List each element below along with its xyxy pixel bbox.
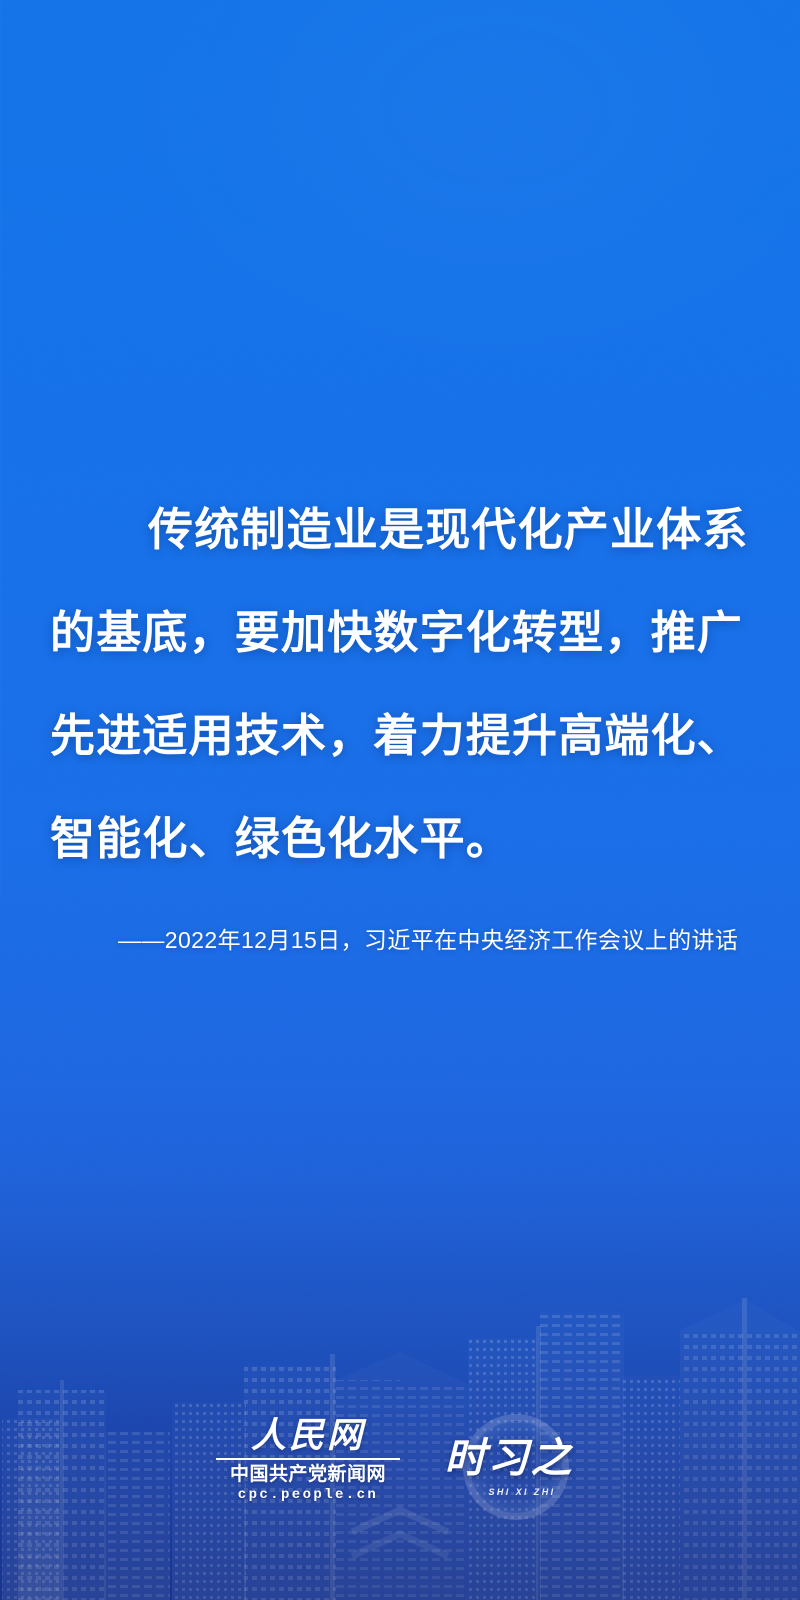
peoples-daily-url: cpc.people.cn xyxy=(238,1488,378,1502)
quote-text: 传统制造业是现代化产业体系 的基底，要加快数字化转型，推广 先进适用技术，着力提… xyxy=(50,478,760,890)
circle-ring-icon xyxy=(463,1414,569,1520)
quote-line-3: 先进适用技术，着力提升高端化、 xyxy=(50,684,760,787)
peoples-daily-brand: 人民网 xyxy=(251,1418,365,1458)
quote-line-1: 传统制造业是现代化产业体系 xyxy=(50,478,760,581)
quote-line-2: 的基底，要加快数字化转型，推广 xyxy=(50,581,760,684)
quote-line-4: 智能化、绿色化水平。 xyxy=(50,787,760,890)
shixizhi-title: 时习之 xyxy=(445,1424,574,1484)
quote-attribution: ——2022年12月15日，习近平在中央经济工作会议上的讲话 xyxy=(50,920,756,960)
logo-divider xyxy=(216,1458,400,1460)
peoples-daily-logo: 人民网 中国共产党新闻网 cpc.people.cn xyxy=(216,1418,400,1502)
peoples-daily-subtitle: 中国共产党新闻网 xyxy=(230,1465,386,1484)
footer-logos: 人民网 中国共产党新闻网 cpc.people.cn 时习之 SHI XI ZH… xyxy=(0,1405,800,1515)
poster-canvas: 传统制造业是现代化产业体系 的基底，要加快数字化转型，推广 先进适用技术，着力提… xyxy=(0,0,800,1600)
shixizhi-column-logo: 时习之 SHI XI ZHI xyxy=(434,1408,584,1512)
cityscape-silhouette xyxy=(0,1180,800,1600)
shixizhi-pinyin: SHI XI ZHI xyxy=(488,1487,555,1497)
cityscape-shading xyxy=(0,1170,800,1600)
